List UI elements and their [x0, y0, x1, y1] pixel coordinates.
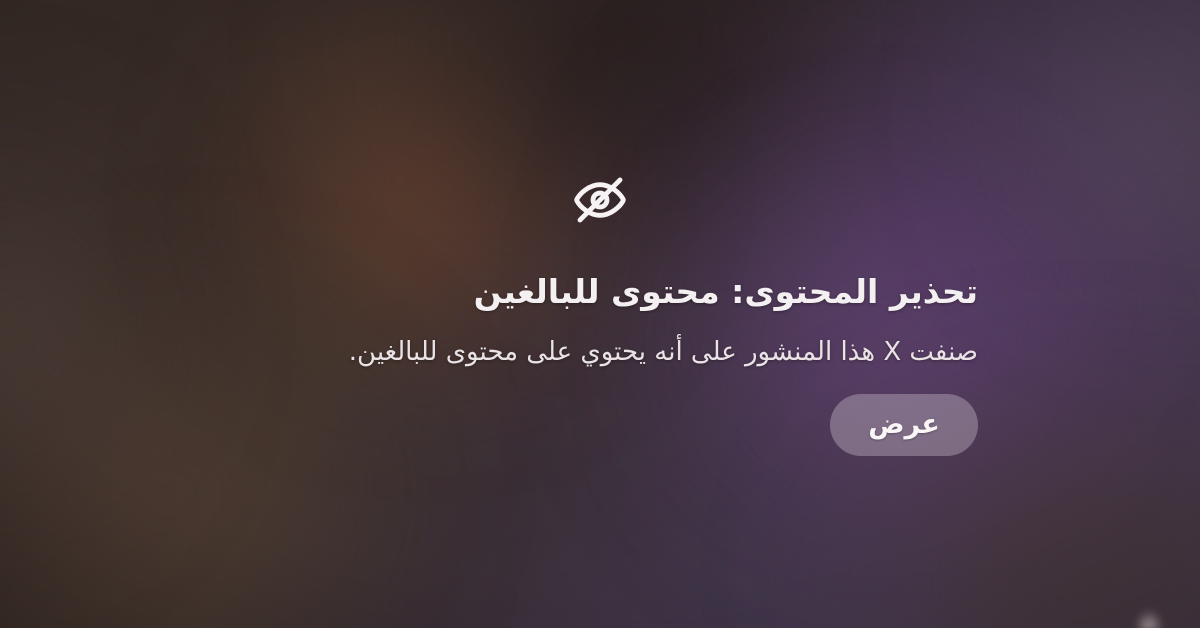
eye-off-icon [572, 172, 628, 228]
content-warning-panel: تحذير المحتوى: محتوى للبالغين صنفت X هذا… [0, 0, 1200, 628]
view-button[interactable]: عرض [830, 394, 978, 456]
page-title: تحذير المحتوى: محتوى للبالغين [222, 272, 978, 312]
warning-description: صنفت X هذا المنشور على أنه يحتوي على محت… [222, 335, 978, 370]
content-warning-screen: تحذير المحتوى: محتوى للبالغين صنفت X هذا… [0, 0, 1200, 628]
warning-actions: عرض [222, 394, 978, 456]
warning-text-block: تحذير المحتوى: محتوى للبالغين صنفت X هذا… [222, 272, 978, 455]
